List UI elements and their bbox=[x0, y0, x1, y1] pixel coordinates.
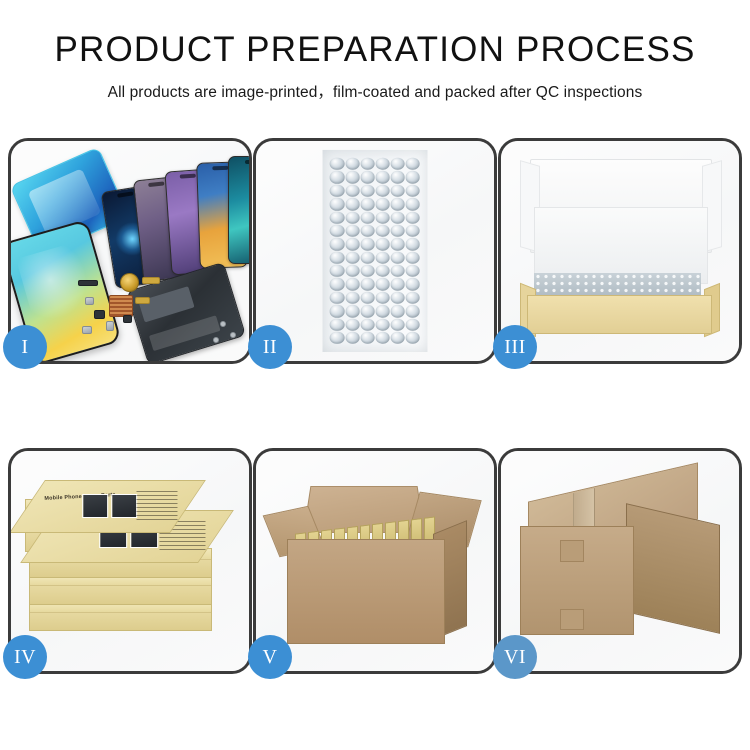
bubble bbox=[391, 292, 405, 304]
bubble bbox=[375, 278, 389, 290]
bubble bbox=[345, 332, 359, 344]
bubble-wrap-texture bbox=[330, 158, 420, 344]
bubble bbox=[391, 171, 405, 183]
bubble bbox=[406, 158, 420, 170]
bubble bbox=[345, 305, 359, 317]
page-title: PRODUCT PREPARATION PROCESS bbox=[0, 32, 750, 69]
bubble bbox=[375, 198, 389, 210]
carton-tab bbox=[560, 609, 584, 631]
bubble bbox=[360, 251, 374, 263]
bubble bbox=[391, 185, 405, 197]
bubble bbox=[375, 251, 389, 263]
header: PRODUCT PREPARATION PROCESS All products… bbox=[0, 0, 750, 102]
box-spec-lines bbox=[137, 491, 178, 521]
step-panel-2: II bbox=[253, 138, 497, 364]
retail-box bbox=[29, 575, 211, 605]
box-product-image bbox=[82, 494, 108, 518]
bubble bbox=[330, 278, 344, 290]
bubble bbox=[330, 238, 344, 250]
bubble bbox=[345, 185, 359, 197]
step-badge-2: II bbox=[248, 325, 292, 369]
step-badge-3: III bbox=[493, 325, 537, 369]
bubble bbox=[375, 265, 389, 277]
bubble bbox=[391, 238, 405, 250]
phone-screens-fan bbox=[106, 154, 249, 286]
step-image-1 bbox=[11, 141, 249, 361]
bubble bbox=[375, 211, 389, 223]
bubble bbox=[391, 318, 405, 330]
carton-tab bbox=[560, 540, 584, 562]
bubble bbox=[360, 305, 374, 317]
bubble bbox=[375, 292, 389, 304]
bubble bbox=[391, 158, 405, 170]
bubble bbox=[360, 318, 374, 330]
bubble bbox=[406, 211, 420, 223]
bubble bbox=[391, 225, 405, 237]
bubble bbox=[345, 198, 359, 210]
step-panel-6: VI bbox=[498, 448, 742, 674]
bubble bbox=[406, 318, 420, 330]
step-image-5 bbox=[256, 451, 494, 671]
step-image-4: Mobile Phone Spare Parts Mobile Phone Sp… bbox=[11, 451, 249, 671]
bubble bbox=[330, 185, 344, 197]
camera-module-part bbox=[94, 310, 105, 319]
bubble bbox=[375, 238, 389, 250]
step-image-6 bbox=[501, 451, 739, 671]
bubble bbox=[345, 158, 359, 170]
bubble bbox=[406, 305, 420, 317]
mesh-chip-part bbox=[109, 295, 133, 317]
bubble bbox=[391, 251, 405, 263]
step-badge-6: VI bbox=[493, 635, 537, 679]
step-badge-4: IV bbox=[3, 635, 47, 679]
bubble bbox=[345, 251, 359, 263]
bubble bbox=[330, 158, 344, 170]
bubble bbox=[406, 185, 420, 197]
bubble bbox=[391, 305, 405, 317]
step-image-3 bbox=[501, 141, 739, 361]
bubble bbox=[360, 238, 374, 250]
bubble bbox=[375, 332, 389, 344]
bubble bbox=[360, 265, 374, 277]
bubble bbox=[360, 278, 374, 290]
step-badge-5: V bbox=[248, 635, 292, 679]
bubble bbox=[345, 238, 359, 250]
antenna-strip-part bbox=[78, 280, 98, 286]
bubble bbox=[391, 198, 405, 210]
bubble bbox=[406, 171, 420, 183]
bubble bbox=[391, 211, 405, 223]
step-panel-1: I bbox=[8, 138, 252, 364]
bubble bbox=[360, 198, 374, 210]
bubble bbox=[330, 211, 344, 223]
bubble bbox=[406, 332, 420, 344]
flex-cable-part bbox=[142, 277, 160, 284]
step-image-2 bbox=[256, 141, 494, 361]
step-badge-1: I bbox=[3, 325, 47, 369]
box-product-image bbox=[111, 494, 137, 518]
bubble bbox=[330, 292, 344, 304]
bubble bbox=[345, 171, 359, 183]
bubble bbox=[406, 292, 420, 304]
open-carton bbox=[275, 482, 475, 649]
bubble bbox=[345, 278, 359, 290]
bubble bbox=[345, 292, 359, 304]
bubble bbox=[406, 198, 420, 210]
button-part bbox=[123, 315, 132, 323]
bubble bbox=[375, 318, 389, 330]
phone-screen-5 bbox=[228, 156, 249, 264]
phones-and-parts-illustration bbox=[11, 141, 249, 361]
bubble-wrapped-phone bbox=[323, 150, 428, 352]
bubble bbox=[360, 185, 374, 197]
carton-side-right bbox=[626, 503, 720, 634]
bubble bbox=[406, 238, 420, 250]
bubble bbox=[375, 225, 389, 237]
box-front-panel bbox=[527, 295, 712, 334]
step-panel-3: III bbox=[498, 138, 742, 364]
retail-box-stack: Mobile Phone Spare Parts Mobile Phone Sp… bbox=[25, 469, 234, 658]
bubble bbox=[345, 318, 359, 330]
bubble bbox=[406, 225, 420, 237]
bubble bbox=[391, 265, 405, 277]
bubble bbox=[360, 225, 374, 237]
notch-icon bbox=[245, 160, 249, 164]
bubble bbox=[330, 265, 344, 277]
carton-front bbox=[287, 539, 445, 645]
connector-part bbox=[82, 326, 92, 334]
notch-icon bbox=[117, 191, 133, 197]
sealed-carton bbox=[520, 482, 720, 645]
bubble bbox=[406, 251, 420, 263]
page-subtitle: All products are image-printed，film-coat… bbox=[0, 80, 750, 102]
bubble bbox=[375, 185, 389, 197]
bubble bbox=[330, 318, 344, 330]
bubble bbox=[360, 292, 374, 304]
notch-icon bbox=[180, 174, 196, 179]
bubble bbox=[330, 251, 344, 263]
retail-box bbox=[29, 601, 211, 631]
bubble bbox=[360, 171, 374, 183]
bubble bbox=[330, 198, 344, 210]
bubble bbox=[406, 278, 420, 290]
sim-tray-part bbox=[106, 321, 114, 331]
bubble bbox=[330, 225, 344, 237]
step-panel-5: V bbox=[253, 448, 497, 674]
bubble bbox=[345, 265, 359, 277]
bubble bbox=[406, 265, 420, 277]
bubble bbox=[345, 225, 359, 237]
bubble bbox=[375, 305, 389, 317]
bracket-part bbox=[85, 297, 94, 305]
bubble bbox=[330, 305, 344, 317]
bubble bbox=[330, 171, 344, 183]
infographic-page: PRODUCT PREPARATION PROCESS All products… bbox=[0, 0, 750, 750]
step-panel-4: Mobile Phone Spare Parts Mobile Phone Sp… bbox=[8, 448, 252, 674]
bubble bbox=[375, 171, 389, 183]
bubble bbox=[345, 211, 359, 223]
bubble bbox=[330, 332, 344, 344]
bubble bbox=[360, 158, 374, 170]
bubble bbox=[360, 211, 374, 223]
bubble bbox=[391, 332, 405, 344]
steps-grid: I II III bbox=[8, 138, 742, 674]
notch-icon bbox=[212, 166, 228, 171]
flex-cable-part bbox=[135, 297, 150, 304]
bubble bbox=[360, 332, 374, 344]
bubble bbox=[375, 158, 389, 170]
notch-icon bbox=[148, 182, 164, 188]
bubble bbox=[391, 278, 405, 290]
